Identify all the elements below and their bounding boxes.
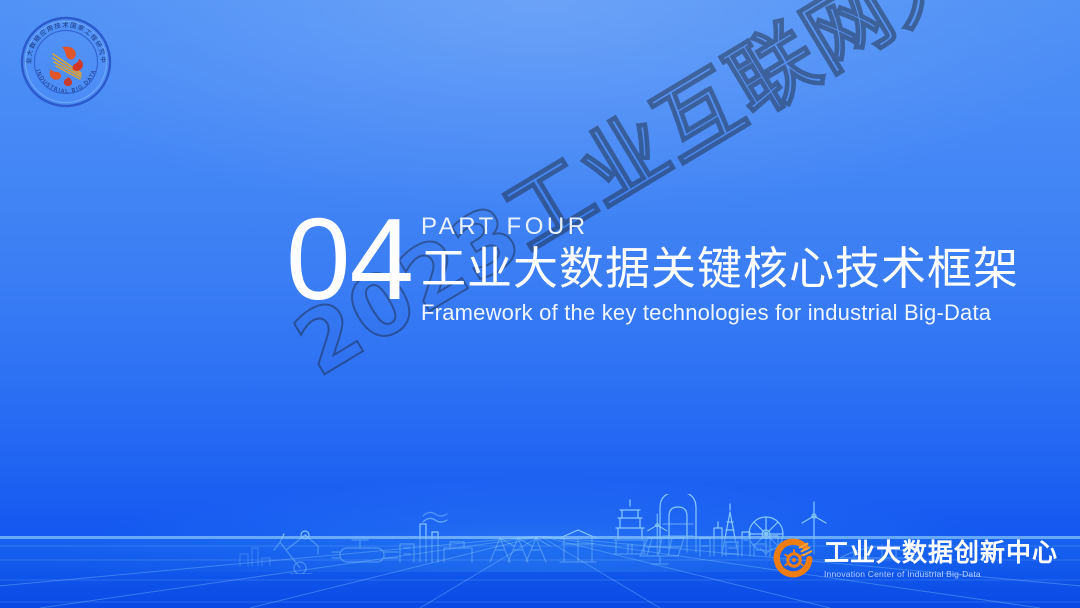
part-number: 04 [286, 210, 413, 310]
brand-name-en: Innovation Center of Industrial Big-Data [824, 569, 1058, 579]
innovation-center-mark-icon [771, 536, 817, 582]
brand-text-group: 工业大数据创新中心 Innovation Center of Industria… [824, 539, 1058, 579]
brand-logo: 工业大数据创新中心 Innovation Center of Industria… [771, 536, 1058, 582]
section-heading: 04 PART FOUR 工业大数据关键核心技术框架 Framework of … [286, 204, 1019, 327]
presentation-slide: 工业大数据应用技术国家工程研究中心 INDUSTRIAL BIG DATA [0, 0, 1080, 608]
part-label: PART FOUR [421, 214, 1019, 240]
heading-text-group: PART FOUR 工业大数据关键核心技术框架 Framework of the… [421, 204, 1019, 327]
brand-name-cn: 工业大数据创新中心 [824, 539, 1058, 567]
seal-logo-icon: 工业大数据应用技术国家工程研究中心 INDUSTRIAL BIG DATA [14, 10, 118, 114]
page-subtitle: Framework of the key technologies for in… [421, 299, 1019, 327]
seal-logo: 工业大数据应用技术国家工程研究中心 INDUSTRIAL BIG DATA [14, 10, 118, 114]
page-title: 工业大数据关键核心技术框架 [421, 242, 1019, 295]
